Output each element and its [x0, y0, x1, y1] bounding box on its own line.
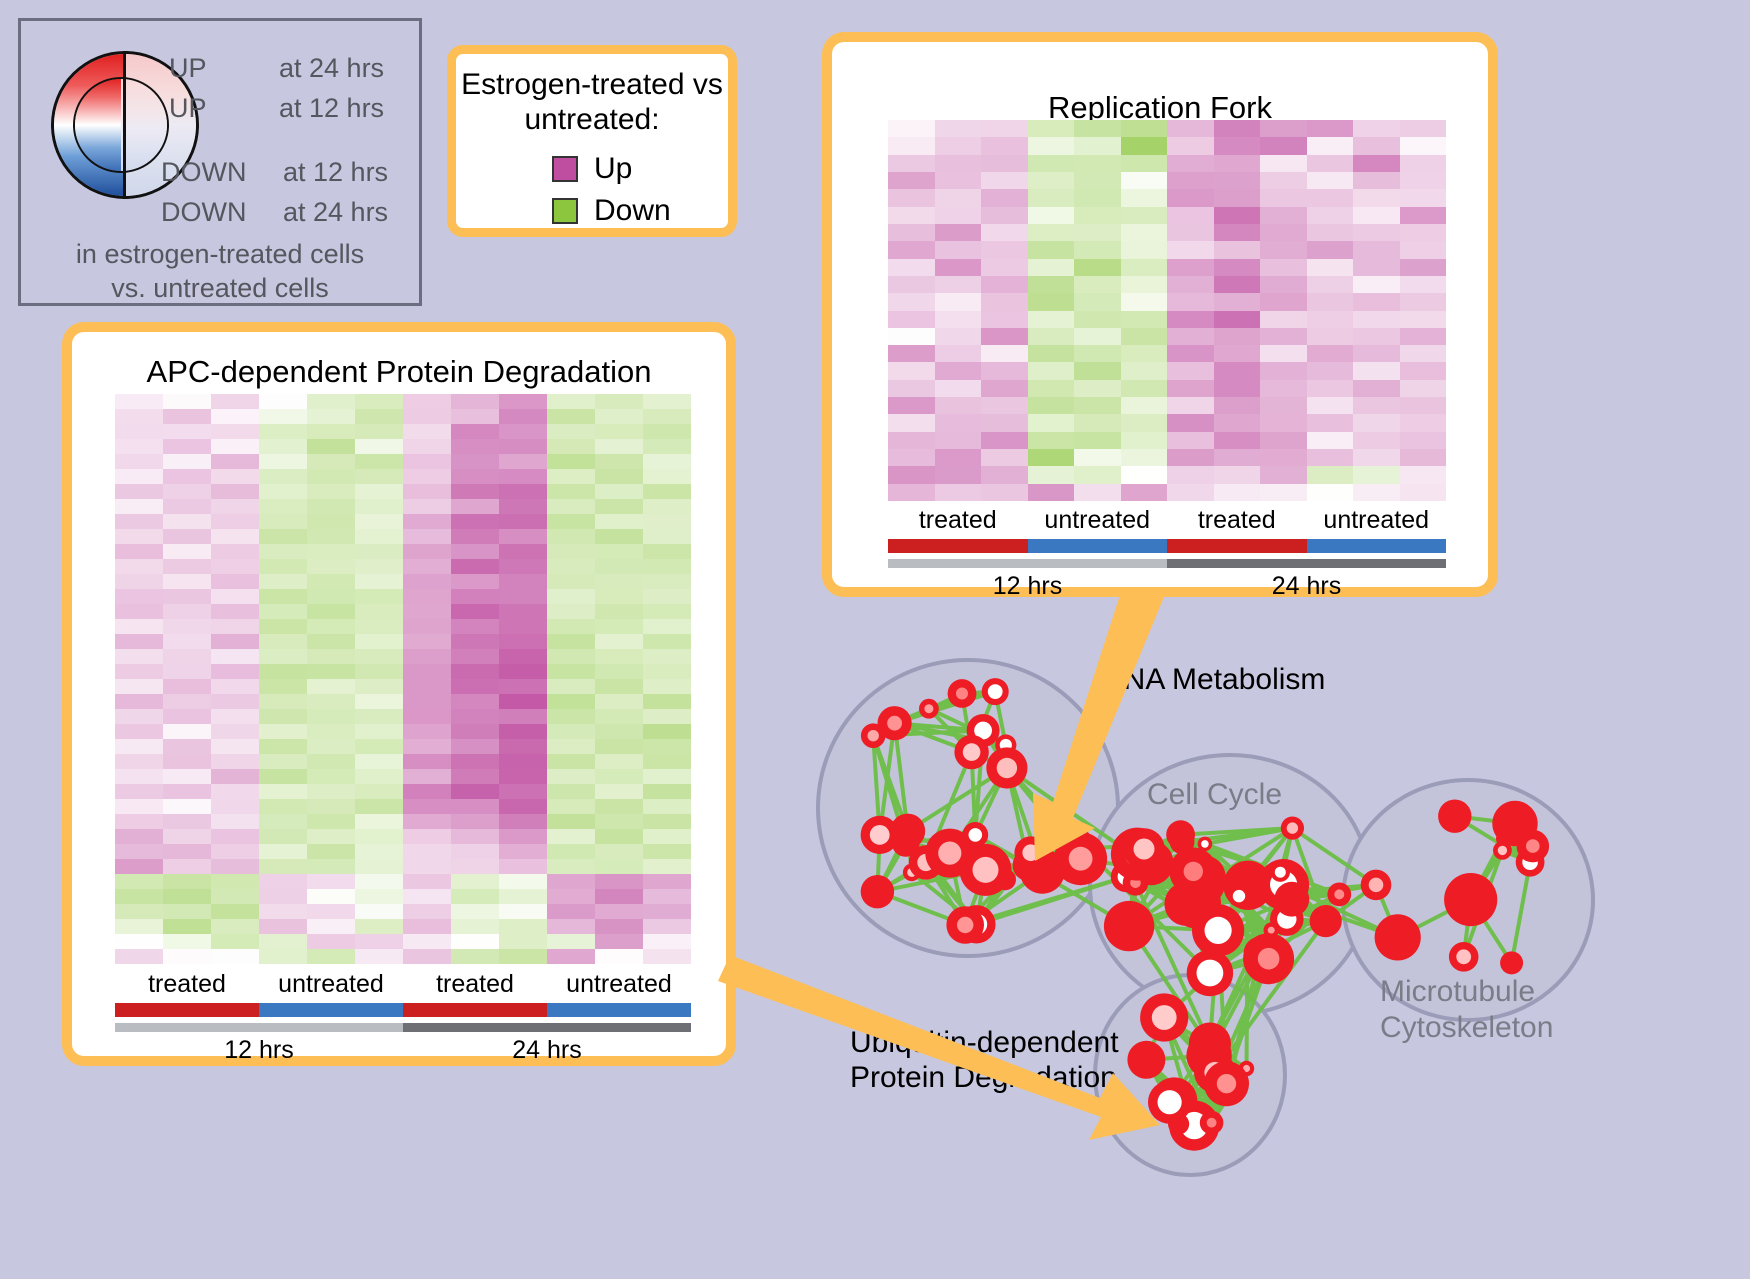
colorwheel-legend-box: UP at 24 hrs UP at 12 hrs DOWN at 12 hrs…	[18, 18, 422, 306]
legend-direction-down-12: DOWN	[161, 157, 246, 188]
legend-time-24hrs-outer: at 24 hrs	[279, 53, 384, 84]
legend-caption-line2: vs. untreated cells	[21, 273, 419, 304]
legend-time-12hrs-inner: at 12 hrs	[279, 93, 384, 124]
condition-label: untreated	[1028, 506, 1168, 535]
legend-time-24hrs-down: at 24 hrs	[283, 197, 388, 228]
heatmap-apc-dependent	[115, 394, 691, 964]
heatmap-replication-fork	[888, 120, 1446, 501]
condition-color-bar	[115, 1003, 691, 1017]
condition-label: untreated	[1307, 506, 1447, 535]
figure-canvas: UP at 24 hrs UP at 12 hrs DOWN at 12 hrs…	[0, 0, 1750, 1279]
condition-label: untreated	[259, 970, 403, 999]
condition-label: treated	[1167, 506, 1307, 535]
legend-row-down: Down	[552, 194, 671, 228]
down-swatch-icon	[552, 198, 578, 224]
wheel-divider	[123, 51, 126, 199]
inner-ring-12hrs	[73, 77, 169, 173]
timepoint-label: 24 hrs	[1167, 572, 1446, 601]
cluster-label-cell-cycle: Cell Cycle	[1147, 778, 1282, 812]
up-label: Up	[594, 152, 632, 186]
condition-label: treated	[888, 506, 1028, 535]
updown-legend-title: Estrogen-treated vs untreated:	[456, 68, 728, 138]
updown-legend-card: Estrogen-treated vs untreated: Up Down	[447, 45, 737, 237]
network-svg	[790, 600, 1750, 1279]
condition-label: untreated	[547, 970, 691, 999]
legend-time-12hrs-down: at 12 hrs	[283, 157, 388, 188]
legend-direction-up-24: UP	[169, 53, 207, 84]
timepoint-color-bar	[115, 1023, 691, 1032]
legend-direction-down-24: DOWN	[161, 197, 246, 228]
condition-label: treated	[403, 970, 547, 999]
timepoint-label: 12 hrs	[115, 1036, 403, 1065]
panel-apc-dependent-protein-degradation: APC-dependent Protein Degradation treate…	[62, 322, 736, 1066]
up-swatch-icon	[552, 156, 578, 182]
legend-caption-line1: in estrogen-treated cells	[21, 239, 419, 270]
down-label: Down	[594, 194, 671, 228]
condition-label: treated	[115, 970, 259, 999]
cluster-label-dna-metabolism: DNA Metabolism	[1102, 663, 1325, 697]
panel-title-apc: APC-dependent Protein Degradation	[72, 354, 726, 390]
condition-color-bar	[888, 539, 1446, 553]
cluster-label-ubiquitin-dependent: Ubiquitin-dependent Protein Degradation	[850, 1025, 1119, 1096]
legend-direction-up-12: UP	[169, 93, 207, 124]
timepoint-label: 12 hrs	[888, 572, 1167, 601]
network-graph: DNA Metabolism Cell Cycle Microtubule Cy…	[790, 600, 1750, 1279]
panel-replication-fork: Replication Fork treated untreated treat…	[822, 32, 1498, 597]
timepoint-label: 24 hrs	[403, 1036, 691, 1065]
timepoint-color-bar	[888, 559, 1446, 568]
cluster-label-microtubule-cytoskeleton: Microtubule Cytoskeleton	[1380, 974, 1553, 1046]
legend-row-up: Up	[552, 152, 632, 186]
